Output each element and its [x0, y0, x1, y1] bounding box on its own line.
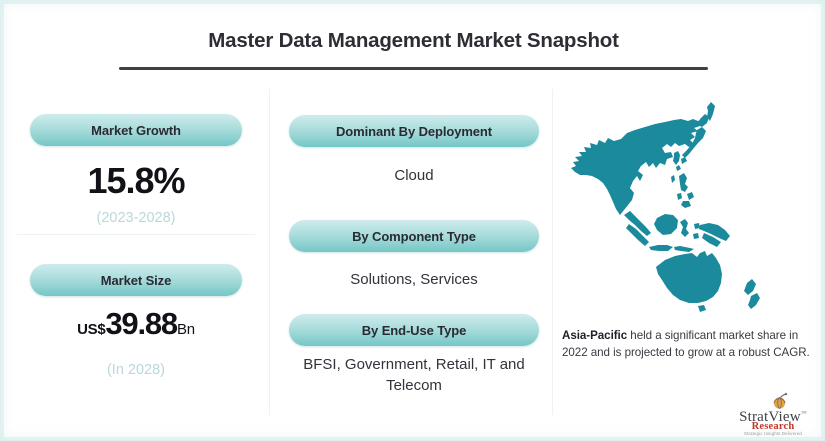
component-type-pill-label: By Component Type [352, 229, 476, 244]
deployment-pill: Dominant By Deployment [289, 115, 539, 147]
region-note-region: Asia-Pacific [562, 329, 627, 342]
market-size-pill: Market Size [30, 264, 242, 296]
market-size-pill-label: Market Size [101, 273, 171, 288]
horizontal-divider-left-column [17, 234, 255, 235]
end-use-type-value: BFSI, Government, Retail, IT and Telecom [277, 354, 551, 396]
end-use-type-pill-label: By End-Use Type [362, 323, 466, 338]
market-size-number: 39.88 [105, 306, 177, 341]
infographic-root: Master Data Management Market Snapshot M… [0, 0, 825, 441]
deployment-pill-label: Dominant By Deployment [336, 124, 492, 139]
market-growth-pill-label: Market Growth [91, 123, 181, 138]
end-use-type-pill: By End-Use Type [289, 314, 539, 346]
region-note: Asia-Pacific held a significant market s… [562, 328, 810, 361]
logo-tagline: Strategic Insights Delivered [729, 431, 817, 437]
page-title: Master Data Management Market Snapshot [1, 27, 825, 55]
market-growth-period: (2023-2028) [17, 207, 255, 229]
component-type-value: Solutions, Services [277, 269, 551, 290]
page-title-block: Master Data Management Market Snapshot [1, 27, 825, 55]
vertical-divider-left [269, 89, 270, 415]
deployment-value: Cloud [277, 165, 551, 186]
market-growth-pill: Market Growth [30, 114, 242, 146]
title-underline-divider [119, 67, 708, 70]
component-type-pill: By Component Type [289, 220, 539, 252]
market-size-value: US$39.88Bn [17, 306, 255, 348]
asia-pacific-map [561, 97, 816, 315]
vertical-divider-right [552, 89, 553, 415]
market-size-period: (In 2028) [17, 359, 255, 381]
market-size-currency: US$ [77, 321, 105, 338]
stratview-research-logo: StratView™ Research Strategic Insights D… [729, 393, 817, 437]
market-size-unit: Bn [177, 321, 195, 338]
logo-trademark-icon: ™ [801, 411, 807, 417]
market-growth-value: 15.8% [17, 160, 255, 202]
